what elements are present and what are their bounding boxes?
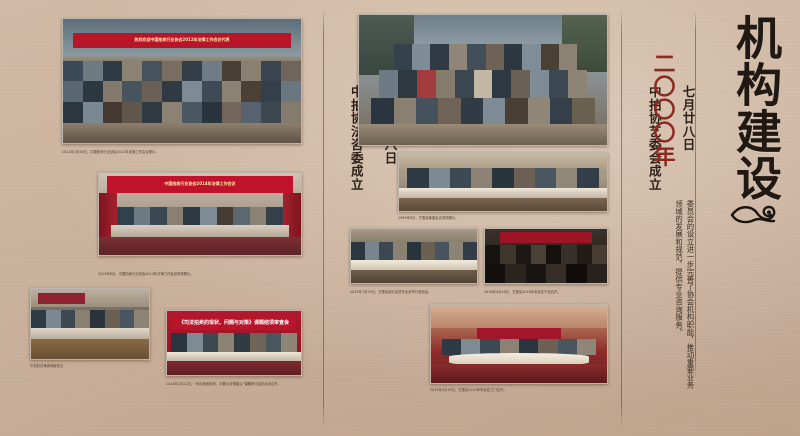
photo-art-committee-roundtable[interactable] — [350, 228, 478, 284]
photo-law-2014-meeting[interactable]: 中国拍卖行业协会2014年法律工作会议 — [98, 172, 302, 256]
date-label-art: 七月廿八日 — [681, 85, 696, 151]
photo-banner-text: 中国拍卖行业协会2014年法律工作会议 — [107, 176, 293, 192]
caption-art-committee-prep: 1999年8月，艺委会筹备会议现场照片。 — [398, 216, 603, 221]
caption-art-committee-roundtable: 2015年7月29日，艺委会部分会员在北京举行座谈会。 — [350, 290, 474, 295]
panel-description: 委员会的设立进一步完善了协会机构职能，推动重要业务领域的发展和规范，提供专业咨询… — [660, 200, 696, 390]
caption-art-committee-forum: 2016年4月18日，艺委会2016年年会在宁波召开。 — [484, 290, 604, 295]
caption-law-2012: 2012年7月16日，中国拍卖行业协会2012年法律工作会议照片。 — [62, 150, 292, 155]
divider-middle — [621, 8, 622, 428]
divider-left — [323, 8, 324, 428]
year-label: 二〇〇〇年 — [648, 52, 676, 182]
caption-law-2014: 2014年8月，中国拍卖行业协会2014年法律工作会议现场照片。 — [98, 272, 298, 277]
photo-art-committee-prep[interactable] — [398, 152, 608, 212]
photo-banner-text: 热烈欢迎中国拍卖行业协会2012年法律工作会议代表 — [73, 33, 292, 48]
caption-judicial-seminar: 2014年2月22日，“司法拍卖现状、问题与对策建议”课题研讨会在北京召开。 — [166, 382, 296, 387]
photo-art-committee-forum[interactable] — [484, 228, 608, 284]
cloud-ornament-icon — [730, 196, 782, 230]
exhibition-panel: 十一月廿八日 中拍协法咨委成立 七月廿八日 中拍协艺委会成立 机构建设 二〇〇〇… — [0, 0, 800, 436]
photo-judicial-auction-seminar[interactable]: 《司法拍卖的现状、问题与对策》课题结项审查会 — [166, 310, 302, 376]
photo-art-committee-group[interactable] — [358, 14, 608, 146]
photo-art-committee-annual-2015[interactable] — [430, 304, 608, 384]
caption-consult-service-day: 中拍协法律咨询服务日 — [30, 364, 140, 369]
photo-banner-text: 《司法拍卖的现状、问题与对策》课题结项审查会 — [172, 315, 295, 330]
photo-law-2012-group[interactable]: 热烈欢迎中国拍卖行业协会2012年法律工作会议代表 — [62, 18, 302, 144]
caption-art-committee-annual-2015: 2015年4月18日，艺委会2015年年会在江门召开。 — [430, 388, 600, 393]
photo-consult-service-day[interactable] — [30, 288, 150, 360]
